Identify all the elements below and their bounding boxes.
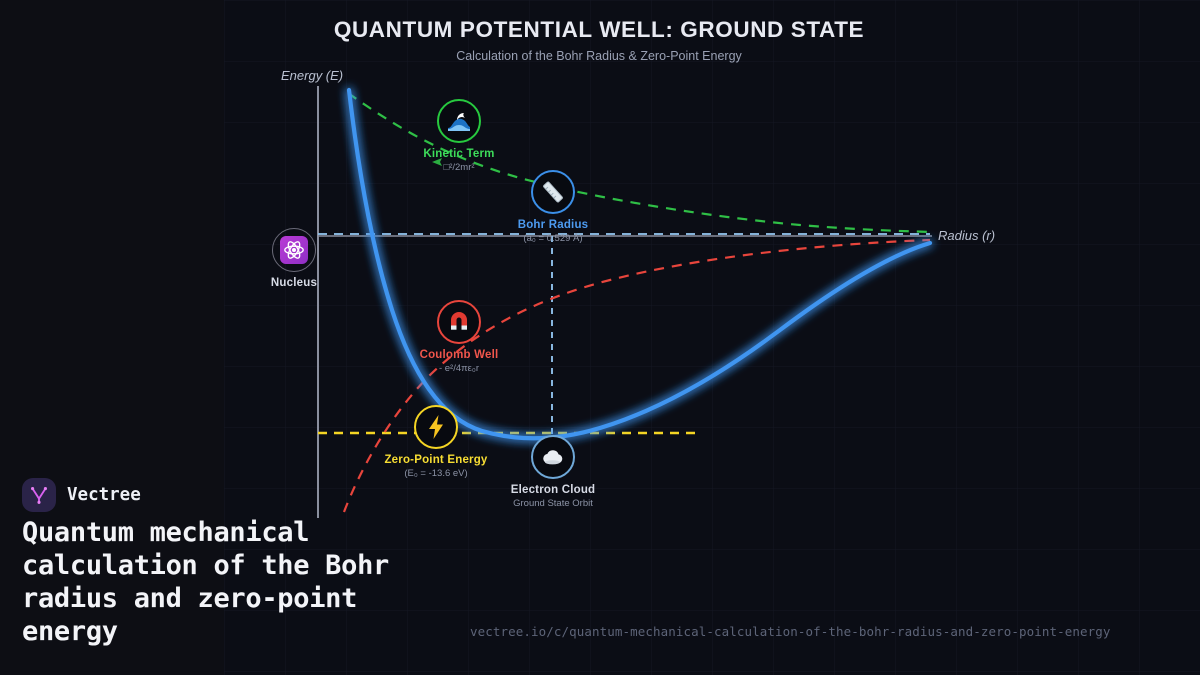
y-axis-label: Energy (E) xyxy=(281,68,343,83)
annotation-formula: (a₀ = 0.529 Å) xyxy=(477,233,629,244)
vectree-logo-icon xyxy=(22,478,56,512)
x-axis-label: Radius (r) xyxy=(938,228,995,243)
magnet-icon xyxy=(437,300,481,344)
page-title: QUANTUM POTENTIAL WELL: GROUND STATE xyxy=(224,17,974,43)
source-url: vectree.io/c/quantum-mechanical-calculat… xyxy=(470,624,1111,639)
annotation-title: Nucleus xyxy=(248,277,340,289)
annotation-title: Coulomb Well xyxy=(383,349,535,361)
annotation-nucleus[interactable]: Nucleus xyxy=(248,228,340,289)
cloud-icon xyxy=(531,435,575,479)
annotation-title: Electron Cloud xyxy=(477,484,629,496)
wave-icon xyxy=(437,99,481,143)
slide-root: QUANTUM POTENTIAL WELL: GROUND STATE Cal… xyxy=(0,0,1200,675)
brand-name: Vectree xyxy=(67,485,141,505)
caption-text: Quantum mechanical calculation of the Bo… xyxy=(22,516,442,648)
annotation-bohr-radius[interactable]: Bohr Radius (a₀ = 0.529 Å) xyxy=(477,170,629,244)
annotation-title: Bohr Radius xyxy=(477,219,629,231)
annotation-electron-cloud[interactable]: Electron Cloud Ground State Orbit xyxy=(477,435,629,509)
annotation-title: Kinetic Term xyxy=(383,148,535,160)
atom-icon xyxy=(272,228,316,272)
lightning-icon xyxy=(414,405,458,449)
ruler-icon xyxy=(531,170,575,214)
brand: Vectree xyxy=(22,478,141,512)
annotation-formula: - e²/4πε₀r xyxy=(383,363,535,374)
page-subtitle: Calculation of the Bohr Radius & Zero-Po… xyxy=(224,49,974,63)
annotation-coulomb-well[interactable]: Coulomb Well - e²/4πε₀r xyxy=(383,300,535,374)
annotation-sublabel: Ground State Orbit xyxy=(477,498,629,509)
annotation-kinetic-term[interactable]: Kinetic Term □²/2mr² xyxy=(383,99,535,173)
